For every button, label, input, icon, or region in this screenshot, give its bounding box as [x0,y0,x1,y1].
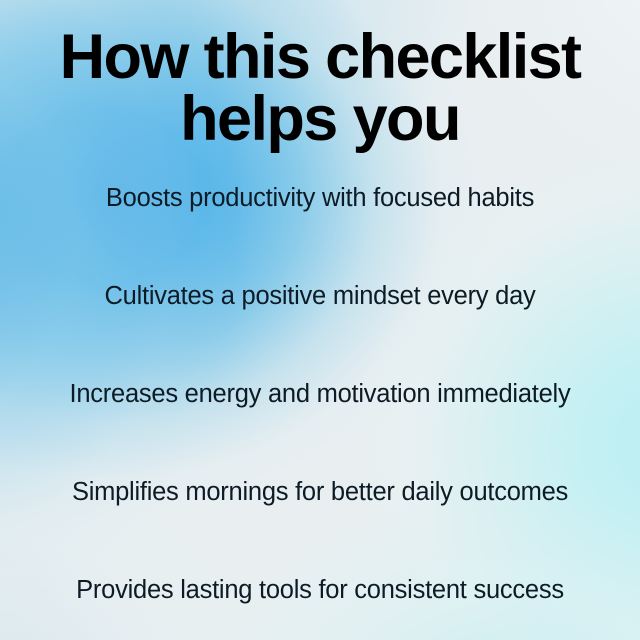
benefits-card: How this checklist helps you Boosts prod… [0,0,640,640]
list-item: Simplifies mornings for better daily out… [0,444,640,542]
list-item: Boosts productivity with focused habits [0,150,640,248]
page-title-line-1: How this checklist [18,0,622,88]
page-title: How this checklist helps you [0,0,640,150]
list-item: Cultivates a positive mindset every day [0,248,640,346]
benefits-list: Boosts productivity with focused habits … [0,150,640,640]
page-title-line-2: helps you [18,88,622,150]
list-item: Provides lasting tools for consistent su… [0,542,640,640]
list-item: Increases energy and motivation immediat… [0,346,640,444]
card-content: How this checklist helps you Boosts prod… [0,0,640,640]
